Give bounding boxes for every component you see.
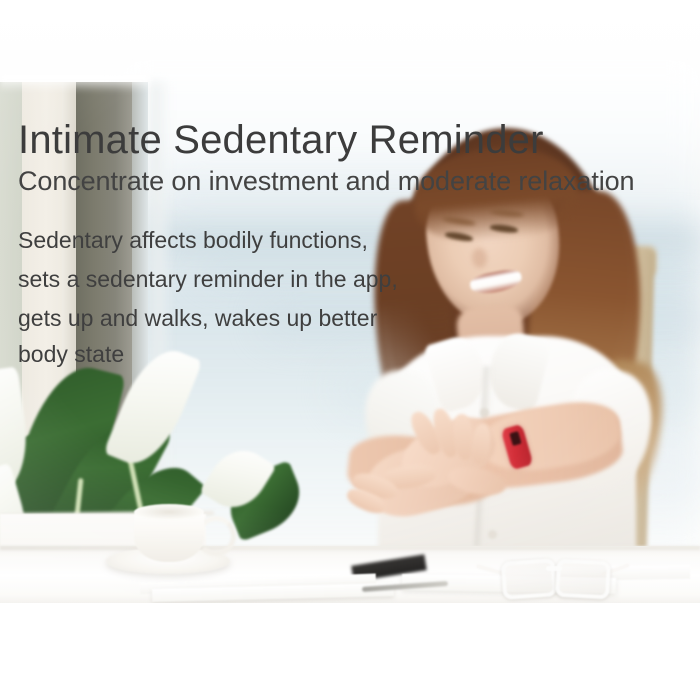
body-text-line: body state <box>18 343 124 366</box>
text-overlay: Intimate Sedentary Reminder Concentrate … <box>0 0 700 603</box>
promo-banner: Intimate Sedentary Reminder Concentrate … <box>0 0 700 700</box>
body-text-line: gets up and walks, wakes up better <box>18 307 377 330</box>
bottom-white-margin <box>0 603 700 700</box>
page-subtitle: Concentrate on investment and moderate r… <box>18 167 634 196</box>
body-text-line: sets a sedentary reminder in the app, <box>18 268 398 291</box>
lifestyle-photo: Intimate Sedentary Reminder Concentrate … <box>0 0 700 603</box>
page-title: Intimate Sedentary Reminder <box>18 119 544 161</box>
body-text-line: Sedentary affects bodily functions, <box>18 229 368 252</box>
